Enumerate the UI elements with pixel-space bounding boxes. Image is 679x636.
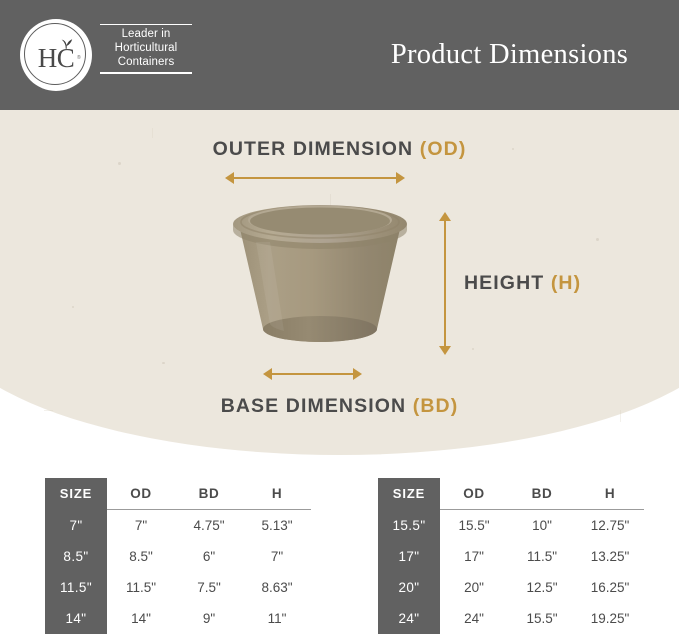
cell-h: 13.25" xyxy=(576,541,644,572)
arrow-line xyxy=(269,373,356,375)
texture-speck xyxy=(472,348,474,350)
tagline-line-1: Leader in xyxy=(100,28,192,42)
diagram-panel: OUTER DIMENSION (OD) xyxy=(0,110,679,455)
texture-speck xyxy=(596,238,599,241)
cell-od: 7" xyxy=(107,510,175,542)
brand-tagline: Leader in Horticultural Containers xyxy=(100,24,192,74)
logo-trademark: ® xyxy=(77,55,81,61)
header-bar: HC ® Leader in Horticultural Containers … xyxy=(0,0,679,110)
height-arrow xyxy=(439,212,451,355)
column-header-size: SIZE xyxy=(45,478,107,510)
table-row: 20" 20" 12.5" 16.25" xyxy=(378,572,644,603)
cell-bd: 6" xyxy=(175,541,243,572)
cell-h: 7" xyxy=(243,541,311,572)
texture-fiber xyxy=(152,128,153,138)
tagline-rule-bottom xyxy=(100,72,192,73)
tagline-text: Leader in Horticultural Containers xyxy=(100,25,192,72)
outer-dimension-arrow xyxy=(225,172,405,184)
base-dimension-arrow xyxy=(263,368,362,380)
cell-od: 24" xyxy=(440,603,508,634)
base-dimension-label: BASE DIMENSION (BD) xyxy=(0,395,679,418)
cell-od: 20" xyxy=(440,572,508,603)
column-header-bd: BD xyxy=(175,478,243,510)
base-dimension-text: BASE DIMENSION xyxy=(221,395,407,417)
dimension-table-left: SIZE OD BD H 7" 7" 4.75" 5.13" 8.5" 8.5"… xyxy=(45,478,311,634)
logo-monogram: HC xyxy=(20,19,92,91)
table-row: 17" 17" 11.5" 13.25" xyxy=(378,541,644,572)
outer-dimension-text: OUTER DIMENSION xyxy=(213,138,414,160)
pot-opening xyxy=(250,208,390,235)
table-header-row: SIZE OD BD H xyxy=(45,478,311,510)
height-text: HEIGHT xyxy=(464,272,544,294)
dimension-table-right: SIZE OD BD H 15.5" 15.5" 10" 12.75" 17" … xyxy=(378,478,644,634)
cell-bd: 11.5" xyxy=(508,541,576,572)
cell-size: 14" xyxy=(45,603,107,634)
product-dimensions-infographic: HC ® Leader in Horticultural Containers … xyxy=(0,0,679,636)
texture-speck xyxy=(162,362,165,364)
cell-size: 7" xyxy=(45,510,107,542)
column-header-size: SIZE xyxy=(378,478,440,510)
cell-h: 16.25" xyxy=(576,572,644,603)
cell-od: 14" xyxy=(107,603,175,634)
table-row: 14" 14" 9" 11" xyxy=(45,603,311,634)
cell-size: 20" xyxy=(378,572,440,603)
cell-h: 12.75" xyxy=(576,510,644,542)
cell-od: 8.5" xyxy=(107,541,175,572)
column-header-od: OD xyxy=(107,478,175,510)
cell-bd: 15.5" xyxy=(508,603,576,634)
outer-dimension-abbr: (OD) xyxy=(420,138,467,160)
cell-size: 24" xyxy=(378,603,440,634)
column-header-h: H xyxy=(576,478,644,510)
column-header-od: OD xyxy=(440,478,508,510)
arrow-line xyxy=(444,218,446,349)
base-dimension-abbr: (BD) xyxy=(413,395,459,417)
texture-speck xyxy=(72,306,74,308)
table-row: 11.5" 11.5" 7.5" 8.63" xyxy=(45,572,311,603)
cell-size: 8.5" xyxy=(45,541,107,572)
cell-h: 11" xyxy=(243,603,311,634)
cell-h: 8.63" xyxy=(243,572,311,603)
tagline-line-2: Horticultural xyxy=(100,42,192,56)
cell-h: 5.13" xyxy=(243,510,311,542)
cell-bd: 4.75" xyxy=(175,510,243,542)
cell-bd: 7.5" xyxy=(175,572,243,603)
cell-size: 15.5" xyxy=(378,510,440,542)
arrow-head-bottom-icon xyxy=(439,346,451,355)
cell-bd: 9" xyxy=(175,603,243,634)
leaf-icon xyxy=(57,37,75,49)
brand-logo: HC ® xyxy=(20,19,92,91)
tagline-line-3: Containers xyxy=(100,56,192,70)
table-row: 24" 24" 15.5" 19.25" xyxy=(378,603,644,634)
arrow-head-right-icon xyxy=(396,172,405,184)
cell-od: 17" xyxy=(440,541,508,572)
flower-pot-illustration xyxy=(226,202,414,372)
table-header-row: SIZE OD BD H xyxy=(378,478,644,510)
height-label: HEIGHT (H) xyxy=(464,272,581,295)
cell-h: 19.25" xyxy=(576,603,644,634)
column-header-bd: BD xyxy=(508,478,576,510)
arrow-line xyxy=(231,177,399,179)
outer-dimension-label: OUTER DIMENSION (OD) xyxy=(0,138,679,161)
dimension-tables: SIZE OD BD H 7" 7" 4.75" 5.13" 8.5" 8.5"… xyxy=(0,478,679,636)
cell-size: 11.5" xyxy=(45,572,107,603)
cell-size: 17" xyxy=(378,541,440,572)
table-row: 8.5" 8.5" 6" 7" xyxy=(45,541,311,572)
texture-speck xyxy=(118,162,121,165)
cell-od: 15.5" xyxy=(440,510,508,542)
height-abbr: (H) xyxy=(551,272,581,294)
cell-bd: 12.5" xyxy=(508,572,576,603)
table-row: 15.5" 15.5" 10" 12.75" xyxy=(378,510,644,542)
arrow-head-right-icon xyxy=(353,368,362,380)
table-row: 7" 7" 4.75" 5.13" xyxy=(45,510,311,542)
cell-od: 11.5" xyxy=(107,572,175,603)
column-header-h: H xyxy=(243,478,311,510)
page-title: Product Dimensions xyxy=(340,0,679,110)
cell-bd: 10" xyxy=(508,510,576,542)
